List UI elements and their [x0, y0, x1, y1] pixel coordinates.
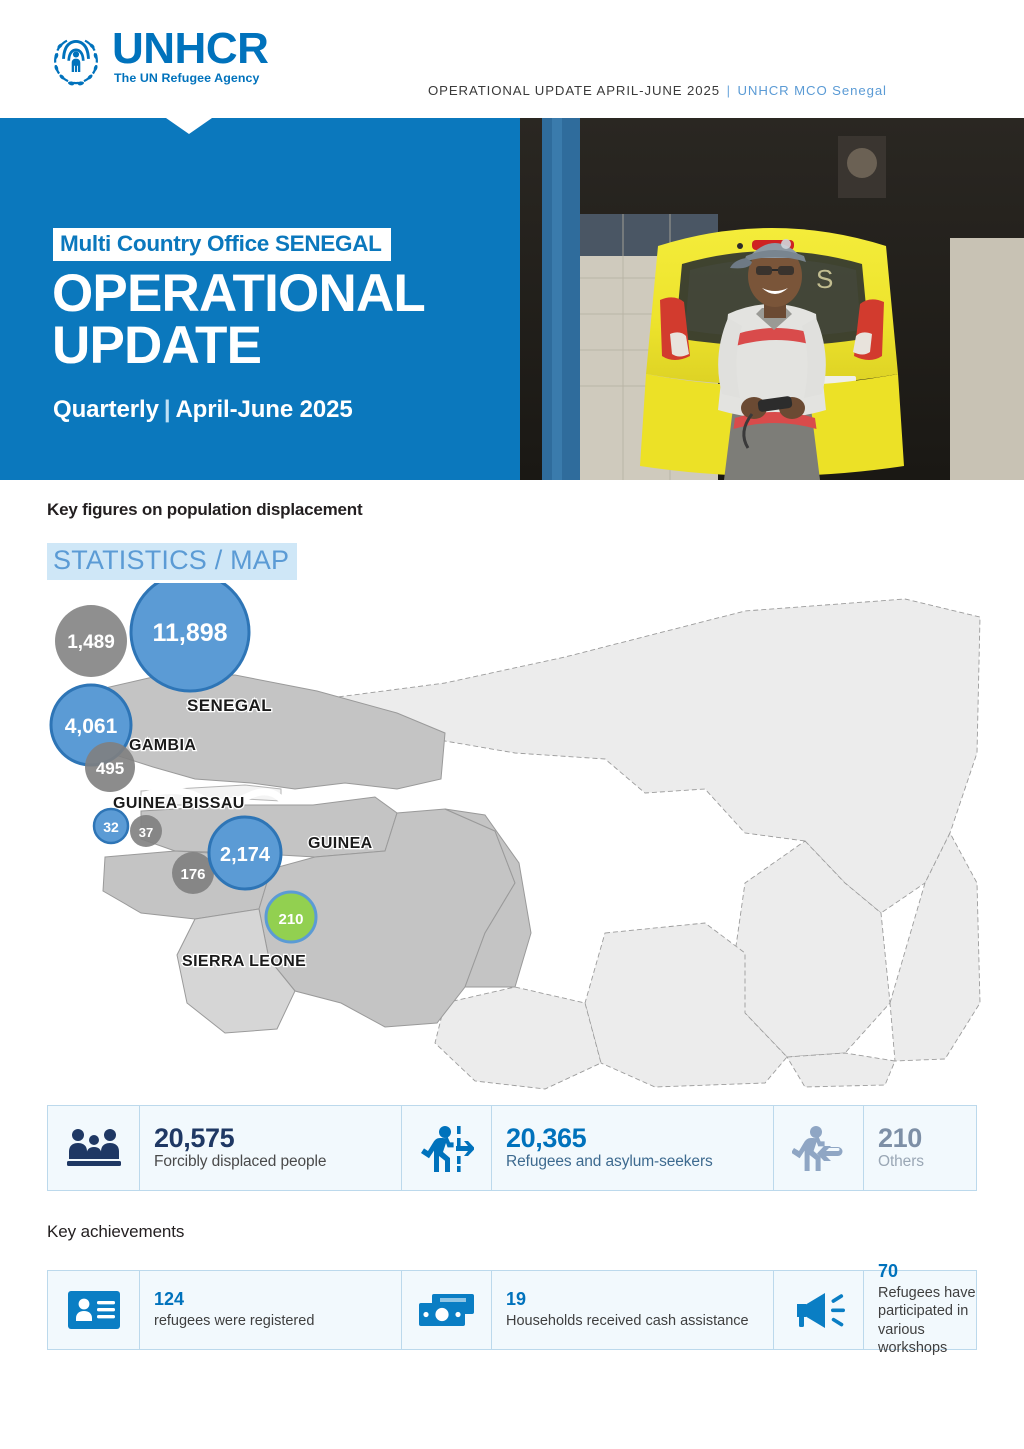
achievement-workshops-label: Refugees have participated in various wo…: [878, 1284, 976, 1358]
map-bubble-2174: 2,174: [209, 817, 281, 889]
family-group-icon: [66, 1127, 122, 1169]
stat-icon-border-crossing: [402, 1106, 492, 1190]
map-bubble-210-value: 210: [278, 911, 303, 928]
stat-refugees-label: Refugees and asylum-seekers: [506, 1153, 713, 1172]
hero-title-line2: UPDATE: [52, 320, 425, 372]
id-card-icon: [67, 1290, 121, 1330]
logo-tagline: The UN Refugee Agency: [114, 71, 268, 85]
hero-title-line1: OPERATIONAL: [52, 268, 425, 320]
achievement-workshops: 70 Refugees have participated in various…: [864, 1271, 976, 1349]
map-svg: SENEGAL GAMBIA GUINEA BISSAU GUINEA SIER…: [45, 583, 985, 1091]
achievement-cash-number: 19: [506, 1290, 526, 1310]
hero-subtitle-separator: |: [159, 396, 176, 423]
hero-office-badge: Multi Country Office SENEGAL: [53, 228, 391, 261]
map-bubble-32: 32: [94, 809, 128, 843]
stat-refugees-number: 20,365: [506, 1124, 586, 1152]
person-returning-icon: [792, 1125, 846, 1171]
hero-subtitle-frequency: Quarterly: [53, 396, 159, 423]
key-achievements-heading: Key achievements: [47, 1222, 184, 1242]
hero-photo: S: [520, 118, 1024, 480]
map-bubble-176-value: 176: [180, 866, 205, 883]
stat-others: 210 Others: [864, 1106, 976, 1190]
hero-subtitle: Quarterly|April-June 2025: [53, 396, 353, 424]
hero-photo-illustration: S: [520, 118, 1024, 480]
stat-forcibly-displaced-number: 20,575: [154, 1124, 234, 1152]
achievement-registration-label: refugees were registered: [154, 1312, 314, 1331]
map-bubble-1489-value: 1,489: [67, 632, 115, 653]
stat-refugees-asylum-seekers: 20,365 Refugees and asylum-seekers: [492, 1106, 774, 1190]
megaphone-icon: [791, 1290, 847, 1330]
achievement-cash: 19 Households received cash assistance: [492, 1271, 774, 1349]
statistics-map-heading: STATISTICS / MAP: [47, 543, 297, 580]
cash-banknote-icon: [418, 1290, 476, 1330]
header-meta-office: UNHCR MCO Senegal: [737, 83, 886, 98]
page-header: UNHCR The UN Refugee Agency OPERATIONAL …: [0, 0, 1024, 118]
achievement-icon-workshops: [774, 1271, 864, 1349]
hero-blue-panel: Multi Country Office SENEGAL OPERATIONAL…: [0, 118, 520, 480]
map-label-guinea-bissau: GUINEA BISSAU: [113, 795, 245, 812]
stat-others-label: Others: [878, 1153, 924, 1172]
person-crossing-border-icon: [420, 1124, 474, 1172]
stat-icon-family: [48, 1106, 140, 1190]
map-bubble-11898-value: 11,898: [152, 619, 227, 647]
header-meta-separator: |: [727, 83, 731, 98]
map-label-gambia: GAMBIA: [129, 737, 196, 754]
map-bubble-11898: 11,898: [131, 583, 249, 691]
hero-title: OPERATIONAL UPDATE: [52, 268, 425, 373]
header-meta: OPERATIONAL UPDATE APRIL-JUNE 2025 | UNH…: [428, 83, 887, 98]
map-label-guinea: GUINEA: [308, 835, 373, 852]
map-bubble-2174-value: 2,174: [220, 844, 271, 866]
map-bubble-32-value: 32: [103, 819, 119, 835]
key-achievements-row: 124 refugees were registered 19 Househol…: [47, 1270, 977, 1350]
hero-subtitle-period: April-June 2025: [175, 396, 352, 423]
map-bubble-37-value: 37: [139, 825, 153, 840]
map-label-senegal: SENEGAL: [187, 696, 272, 715]
map-label-sierra-leone: SIERRA LEONE: [182, 953, 306, 970]
map-bubble-176: 176: [172, 852, 214, 894]
stat-others-number: 210: [878, 1124, 922, 1152]
population-stats-row: 20,575 Forcibly displaced people 20,365 …: [47, 1105, 977, 1191]
stat-forcibly-displaced-label: Forcibly displaced people: [154, 1153, 326, 1172]
logo-wordmark: UNHCR: [112, 28, 268, 70]
achievement-icon-registration: [48, 1271, 140, 1349]
west-africa-bubble-map: SENEGAL GAMBIA GUINEA BISSAU GUINEA SIER…: [45, 583, 985, 1091]
map-bubble-495: 495: [85, 742, 135, 792]
achievement-workshops-number: 70: [878, 1262, 898, 1282]
achievement-registration: 124 refugees were registered: [140, 1271, 402, 1349]
stat-forcibly-displaced: 20,575 Forcibly displaced people: [140, 1106, 402, 1190]
unhcr-emblem-icon: [47, 26, 105, 88]
hero-notch-triangle: [166, 118, 212, 134]
hero-banner: Multi Country Office SENEGAL OPERATIONAL…: [0, 118, 1024, 480]
achievement-registration-number: 124: [154, 1290, 184, 1310]
achievement-icon-cash: [402, 1271, 492, 1349]
map-bubble-495-value: 495: [96, 759, 124, 778]
svg-text:S: S: [816, 264, 833, 294]
header-meta-title: OPERATIONAL UPDATE APRIL-JUNE 2025: [428, 83, 720, 98]
stat-icon-returning: [774, 1106, 864, 1190]
unhcr-logo: UNHCR The UN Refugee Agency: [47, 26, 268, 88]
map-bubble-4061-value: 4,061: [65, 715, 118, 738]
achievement-cash-label: Households received cash assistance: [506, 1312, 749, 1331]
map-bubble-1489: 1,489: [55, 605, 127, 677]
key-figures-heading: Key figures on population displacement: [47, 500, 362, 520]
map-bubble-37: 37: [130, 815, 162, 847]
map-bubble-210: 210: [266, 892, 316, 942]
